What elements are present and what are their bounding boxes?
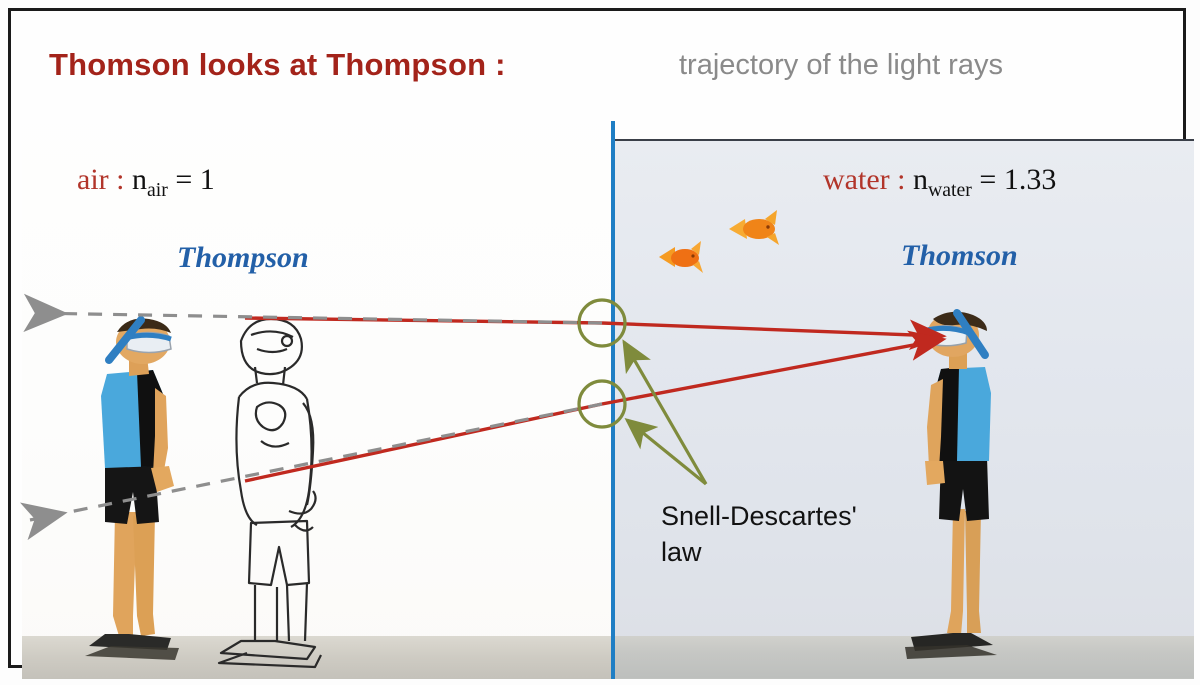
- law-caption-line-2: law: [661, 535, 901, 571]
- label-thomson: Thomson: [901, 239, 1018, 273]
- label-thompson: Thompson: [177, 241, 309, 275]
- fish-icon-1: [653, 239, 709, 279]
- water-refractive-index-label: water : nwater = 1.33: [823, 163, 1056, 202]
- snell-descartes-law-caption: Snell-Descartes' law: [661, 499, 901, 570]
- fish-icon-2: [725, 207, 787, 251]
- water-n-symbol: n: [913, 163, 928, 196]
- diver-thompson-real: [71, 316, 201, 661]
- image-frame: Thomson looks at Thompson : trajectory o…: [8, 8, 1186, 668]
- air-n-value: = 1: [168, 163, 215, 196]
- law-caption-line-1: Snell-Descartes': [661, 499, 901, 535]
- diver-thomson-real: [901, 311, 1021, 663]
- air-refractive-index-label: air : nair = 1: [77, 163, 215, 202]
- air-n-subscript: air: [147, 179, 168, 201]
- diver-thompson-virtual-outline: [211, 311, 341, 671]
- air-n-symbol: n: [132, 163, 147, 196]
- air-water-interface-line: [611, 121, 615, 679]
- air-medium-word: air :: [77, 163, 132, 196]
- diagram-canvas: Thomson looks at Thompson : trajectory o…: [0, 0, 1200, 685]
- water-n-value: = 1.33: [972, 163, 1056, 196]
- page-title: Thomson looks at Thompson :: [49, 47, 506, 83]
- water-medium-word: water :: [823, 163, 913, 196]
- water-n-subscript: water: [928, 179, 972, 201]
- page-subtitle: trajectory of the light rays: [679, 49, 1003, 82]
